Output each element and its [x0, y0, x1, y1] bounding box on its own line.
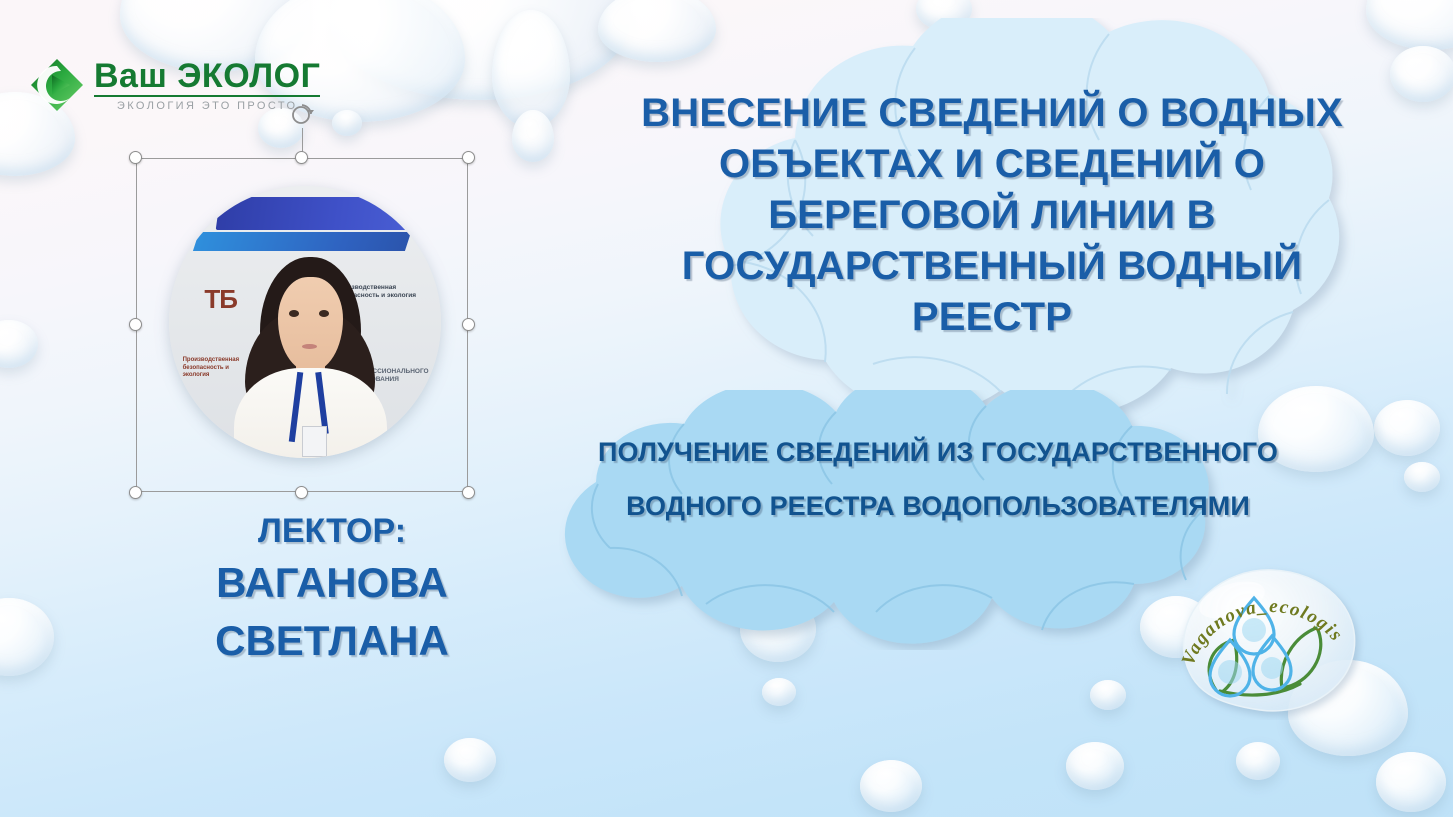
resize-handle-e[interactable]: [462, 318, 475, 331]
resize-handle-sw[interactable]: [129, 486, 142, 499]
background-bubble: [740, 596, 816, 662]
background-bubble: [512, 110, 554, 162]
background-bubble: [0, 598, 54, 676]
resize-handle-n[interactable]: [295, 151, 308, 164]
resize-handle-nw[interactable]: [129, 151, 142, 164]
background-bubble: [860, 760, 922, 812]
background-bubble: [1374, 400, 1440, 456]
background-bubble: [1404, 462, 1440, 492]
background-bubble: [1390, 46, 1453, 102]
brand-name: Ваш ЭКОЛОГ: [94, 58, 320, 97]
watermark-logo: Vaganova_ecologist: [1168, 558, 1368, 720]
lecturer-photo-selection[interactable]: ТБ ♻ Производственная безопасность и эко…: [136, 158, 468, 492]
resize-handle-s[interactable]: [295, 486, 308, 499]
slide-title: ВНЕСЕНИЕ СВЕДЕНИЙ О ВОДНЫХ ОБЪЕКТАХ И СВ…: [612, 88, 1372, 343]
background-bubble: [1090, 680, 1126, 710]
lecturer-label: ЛЕКТОР:: [142, 508, 522, 554]
resize-handle-w[interactable]: [129, 318, 142, 331]
brand-logo: Ваш ЭКОЛОГ ЭКОЛОГИЯ ЭТО ПРОСТО: [30, 58, 320, 112]
background-bubble: [332, 110, 362, 136]
slide-subtitle: ПОЛУЧЕНИЕ СВЕДЕНИЙ ИЗ ГОСУДАРСТВЕННОГО В…: [528, 425, 1348, 533]
background-bubble: [0, 320, 38, 368]
eco-arrow-logo-icon: [30, 58, 84, 112]
lecturer-block: ЛЕКТОР: ВАГАНОВА СВЕТЛАНА: [142, 508, 522, 670]
presentation-slide: ВНЕСЕНИЕ СВЕДЕНИЙ О ВОДНЫХ ОБЪЕКТАХ И СВ…: [0, 0, 1453, 817]
background-bubble: [598, 0, 716, 62]
background-bubble: [492, 10, 570, 128]
background-bubble: [330, 0, 630, 100]
background-bubble: [1366, 0, 1453, 50]
resize-handle-se[interactable]: [462, 486, 475, 499]
lecturer-firstname: СВЕТЛАНА: [142, 612, 522, 670]
background-bubble: [762, 678, 796, 706]
background-bubble: [1376, 752, 1446, 812]
brand-tagline: ЭКОЛОГИЯ ЭТО ПРОСТО: [94, 100, 320, 112]
background-bubble: [1236, 742, 1280, 780]
background-bubble: [916, 0, 972, 30]
background-bubble: [444, 738, 496, 782]
resize-handle-ne[interactable]: [462, 151, 475, 164]
lecturer-surname: ВАГАНОВА: [142, 554, 522, 612]
background-bubble: [1066, 742, 1124, 790]
